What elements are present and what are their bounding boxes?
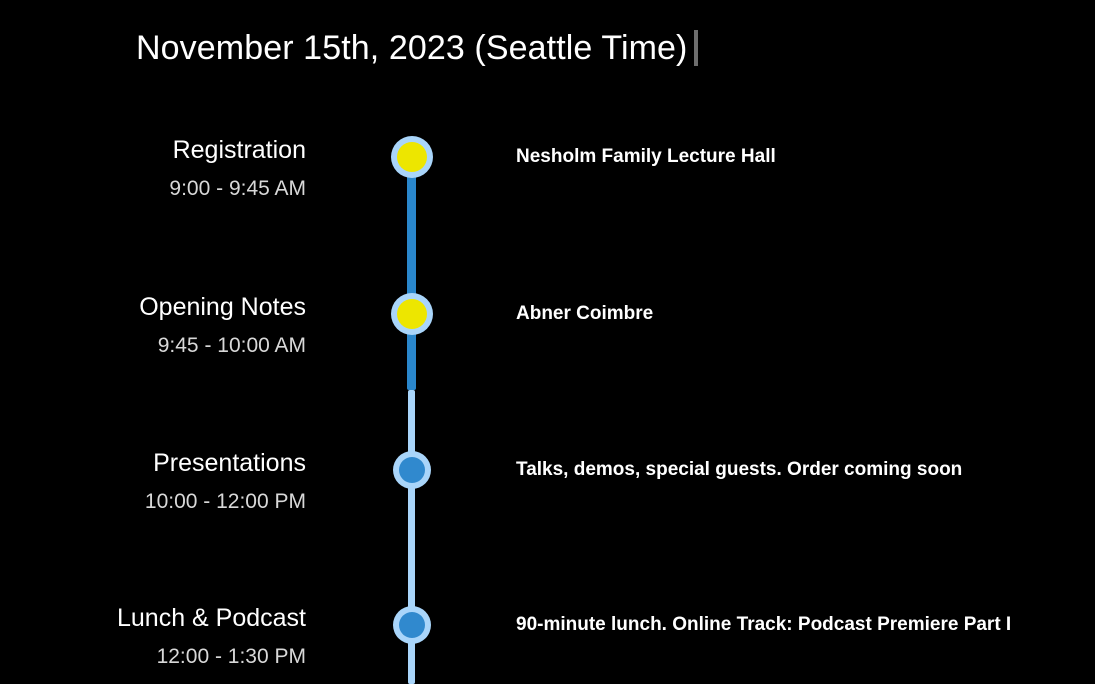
node-core bbox=[399, 612, 425, 638]
event-time: 12:00 - 1:30 PM bbox=[0, 642, 306, 672]
node-core bbox=[397, 299, 427, 329]
timeline-node-yellow-icon[interactable] bbox=[391, 293, 433, 335]
timeline-node-yellow-icon[interactable] bbox=[391, 136, 433, 178]
timeline-node-blue-icon[interactable] bbox=[393, 451, 431, 489]
event-label-group: Registration 9:00 - 9:45 AM bbox=[0, 133, 306, 204]
timeline-node-blue-icon[interactable] bbox=[393, 606, 431, 644]
event-detail: Abner Coimbre bbox=[516, 300, 1095, 328]
event-detail: 90-minute lunch. Online Track: Podcast P… bbox=[516, 611, 1095, 639]
node-core bbox=[399, 457, 425, 483]
schedule-timeline: Registration 9:00 - 9:45 AM Nesholm Fami… bbox=[0, 0, 1095, 684]
event-title: Presentations bbox=[0, 446, 306, 480]
timeline-line-completed bbox=[407, 157, 416, 390]
event-time: 10:00 - 12:00 PM bbox=[0, 487, 306, 517]
schedule-page: November 15th, 2023 (Seattle Time) Regis… bbox=[0, 0, 1095, 684]
event-label-group: Lunch & Podcast 12:00 - 1:30 PM bbox=[0, 601, 306, 672]
event-detail: Talks, demos, special guests. Order comi… bbox=[516, 456, 1095, 484]
event-time: 9:45 - 10:00 AM bbox=[0, 331, 306, 361]
event-label-group: Opening Notes 9:45 - 10:00 AM bbox=[0, 290, 306, 361]
event-detail: Nesholm Family Lecture Hall bbox=[516, 143, 1095, 171]
node-core bbox=[397, 142, 427, 172]
event-title: Opening Notes bbox=[0, 290, 306, 324]
event-title: Registration bbox=[0, 133, 306, 167]
event-label-group: Presentations 10:00 - 12:00 PM bbox=[0, 446, 306, 517]
event-title: Lunch & Podcast bbox=[0, 601, 306, 635]
event-time: 9:00 - 9:45 AM bbox=[0, 174, 306, 204]
